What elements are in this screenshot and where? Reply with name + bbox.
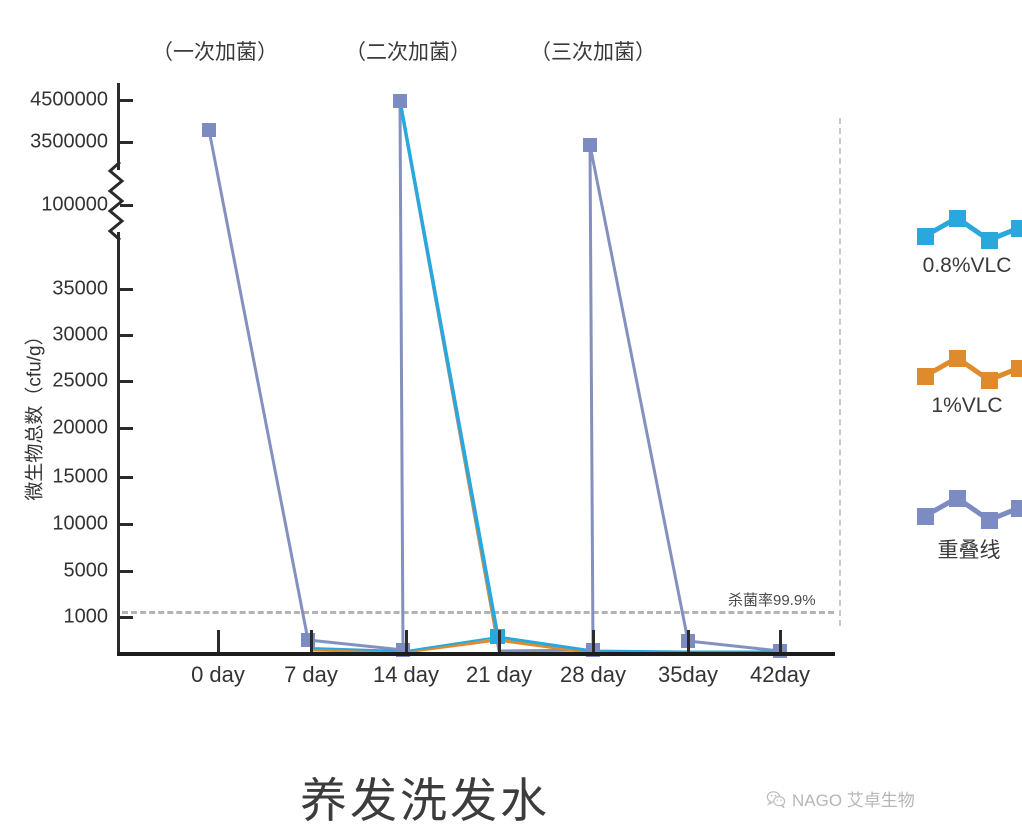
y-axis-label-4500000: 4500000	[30, 89, 108, 112]
wechat-icon	[766, 789, 786, 809]
y-tick-3500000	[120, 141, 133, 144]
y-tick-15000	[120, 476, 133, 479]
x-axis-label-7day: 7 day	[284, 662, 338, 688]
threshold-label: 杀菌率99.9%	[728, 589, 816, 610]
right-vertical-divider	[839, 118, 841, 626]
y-axis-line-lower	[117, 232, 120, 654]
legend-swatch-2	[905, 480, 1022, 532]
x-tick-28day	[592, 630, 595, 652]
y-axis-line-upper	[117, 83, 120, 170]
x-tick-42day	[779, 630, 782, 652]
legend-item-1[interactable]: 1%VLC	[905, 340, 1022, 480]
x-axis-label-0day: 0 day	[191, 662, 245, 688]
y-tick-5000	[120, 570, 133, 573]
x-tick-35day	[687, 630, 690, 652]
legend-swatch-1	[905, 340, 1022, 392]
x-axis-label-28day: 28 day	[560, 662, 626, 688]
plot-lines	[0, 0, 1022, 829]
y-axis-label-15000: 15000	[52, 466, 108, 489]
legend-label-0: 0.8%VLC	[905, 254, 1022, 278]
y-tick-100000	[120, 204, 133, 207]
x-axis-label-42day: 42day	[750, 662, 810, 688]
threshold-line-999	[122, 611, 834, 614]
x-tick-0day	[217, 630, 220, 652]
legend-item-2[interactable]: 重叠线	[905, 480, 1022, 620]
x-tick-14day	[405, 630, 408, 652]
axis-break-zigzag-icon	[106, 162, 128, 240]
chart-legend: 0.8%VLC 1%VLC	[905, 200, 1022, 620]
phase-annotation-1: （一次加菌）	[152, 36, 278, 66]
y-tick-25000	[120, 380, 133, 383]
legend-swatch-0	[905, 200, 1022, 252]
y-tick-35000	[120, 288, 133, 291]
y-axis-label-100000: 100000	[41, 194, 108, 217]
x-tick-21day	[498, 630, 501, 652]
y-axis-label-5000: 5000	[64, 560, 109, 583]
chart-figure: （一次加菌） （二次加菌） （三次加菌） 4500000 3500000 100…	[0, 0, 1022, 829]
legend-label-1: 1%VLC	[905, 394, 1022, 418]
y-tick-4500000	[120, 99, 133, 102]
phase-annotation-3: （三次加菌）	[530, 36, 656, 66]
x-axis-line	[117, 652, 835, 656]
y-axis-label-25000: 25000	[52, 370, 108, 393]
y-axis-label-10000: 10000	[52, 513, 108, 536]
x-axis-label-35day: 35day	[658, 662, 718, 688]
legend-label-2: 重叠线	[907, 534, 1022, 564]
phase-annotation-2: （二次加菌）	[345, 36, 471, 66]
y-axis-title: 微生物总数（cfu/g）	[20, 299, 47, 529]
y-axis-label-1000: 1000	[64, 606, 109, 629]
figure-caption: 养发洗发水	[300, 762, 550, 829]
y-tick-10000	[120, 523, 133, 526]
y-tick-1000	[120, 616, 133, 619]
y-axis-label-20000: 20000	[52, 417, 108, 440]
x-axis-label-21day: 21 day	[466, 662, 532, 688]
x-tick-7day	[310, 630, 313, 652]
y-axis-label-35000: 35000	[52, 278, 108, 301]
legend-item-0[interactable]: 0.8%VLC	[905, 200, 1022, 340]
y-tick-20000	[120, 427, 133, 430]
y-axis-label-30000: 30000	[52, 324, 108, 347]
watermark-text: NAGO 艾卓生物	[792, 786, 915, 811]
y-tick-30000	[120, 334, 133, 337]
watermark: NAGO 艾卓生物	[766, 786, 915, 811]
y-axis-label-3500000: 3500000	[30, 131, 108, 154]
x-axis-label-14day: 14 day	[373, 662, 439, 688]
